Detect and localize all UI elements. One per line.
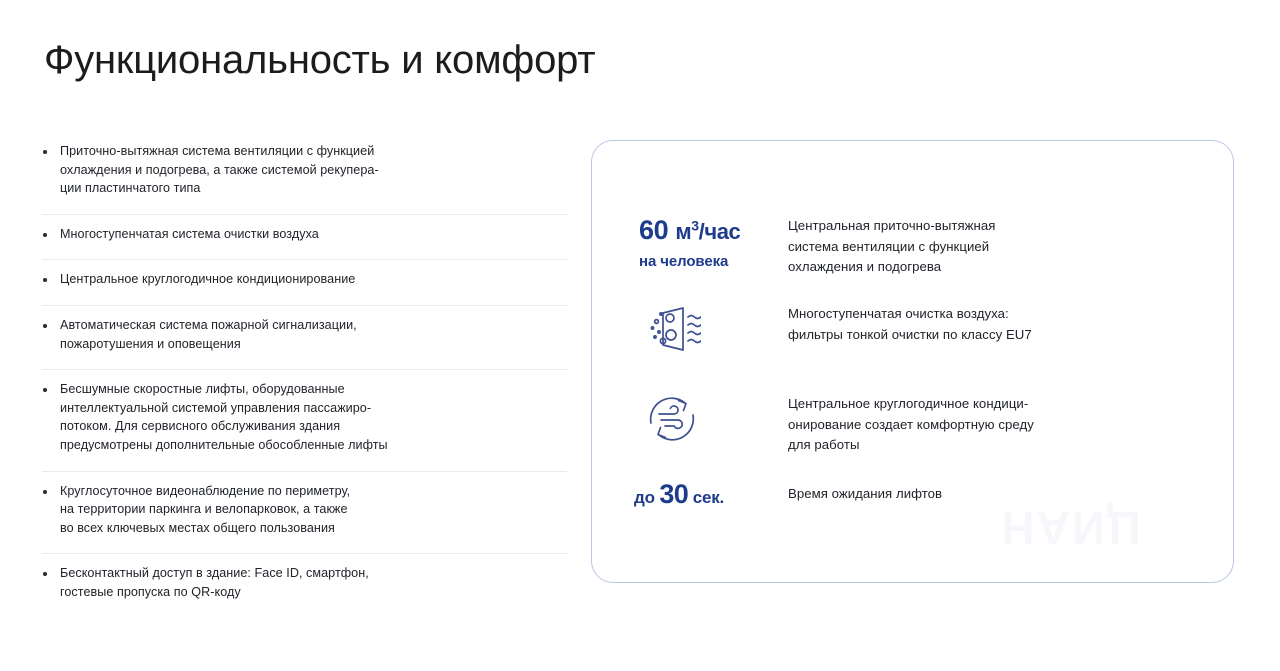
list-item: Приточно-вытяжная система вентиляции с ф… [42, 132, 567, 215]
highlight-row-conditioning: Центральное круглогодичное кондици- онир… [634, 393, 1194, 456]
bullet-icon [43, 490, 47, 494]
list-item: Бесконтактный доступ в здание: Face ID, … [42, 554, 567, 617]
air-conditioning-cycle-icon [641, 393, 703, 445]
list-item: Центральное круглогодичное кондициониров… [42, 260, 567, 306]
highlights-card: 60 м3/час на человека Центральная приточ… [591, 140, 1234, 583]
highlight-row-air-purification: Многоступенчатая очистка воздуха: фильтр… [634, 303, 1194, 355]
feature-text: Центральное круглогодичное кондициониров… [60, 270, 355, 289]
highlight-description: Время ожидания лифтов [788, 479, 1194, 509]
icon-lead [634, 393, 788, 445]
list-item: Автоматическая система пожарной сигнализ… [42, 306, 567, 370]
bullet-icon [43, 388, 47, 392]
bullet-icon [43, 233, 47, 237]
stat-suffix: сек. [693, 488, 724, 507]
list-item: Многоступенчатая система очистки воздуха [42, 215, 567, 261]
highlight-row-elevator-wait: до 30 сек. Время ожидания лифтов [634, 479, 1194, 513]
feature-text: Многоступенчатая система очистки воздуха [60, 225, 319, 244]
bullet-icon [43, 572, 47, 576]
stat-inline: до 30 сек. [634, 479, 724, 513]
feature-text: Автоматическая система пожарной сигнализ… [60, 316, 357, 353]
highlight-description: Центральное круглогодичное кондици- онир… [788, 393, 1194, 456]
bullet-icon [43, 324, 47, 328]
icon-lead [634, 303, 788, 355]
stat-sublabel: на человека [639, 252, 740, 272]
highlight-row-ventilation: 60 м3/час на человека Центральная приточ… [634, 215, 1194, 278]
feature-text: Бесшумные скоростные лифты, оборудованны… [60, 380, 388, 454]
bullet-icon [43, 278, 47, 282]
list-item: Бесшумные скоростные лифты, оборудованны… [42, 370, 567, 471]
stat-prefix: до [634, 488, 655, 507]
feature-text: Приточно-вытяжная система вентиляции с ф… [60, 142, 379, 198]
stat-unit: м3/час [675, 219, 740, 244]
bullet-icon [43, 150, 47, 154]
page-title: Функциональность и комфорт [44, 36, 595, 84]
highlights-rows: 60 м3/час на человека Центральная приточ… [592, 141, 1233, 582]
features-list: Приточно-вытяжная система вентиляции с ф… [42, 132, 567, 618]
highlight-description: Многоступенчатая очистка воздуха: фильтр… [788, 303, 1194, 345]
highlight-description: Центральная приточно-вытяжная система ве… [788, 215, 1194, 278]
stat-value: 60 м3/час [639, 215, 740, 247]
stat-lead: до 30 сек. [634, 479, 788, 513]
feature-text: Круглосуточное видеонаблюдение по периме… [60, 482, 350, 538]
list-item: Круглосуточное видеонаблюдение по периме… [42, 472, 567, 555]
feature-text: Бесконтактный доступ в здание: Face ID, … [60, 564, 369, 601]
stat-number: 30 [659, 479, 688, 509]
stat-number: 60 [639, 215, 668, 245]
slide-root: Функциональность и комфорт Приточно-вытя… [0, 0, 1280, 671]
stat-lead: 60 м3/час на человека [634, 215, 788, 272]
air-filter-icon [641, 303, 703, 355]
stat-block: 60 м3/час на человека [634, 215, 740, 272]
